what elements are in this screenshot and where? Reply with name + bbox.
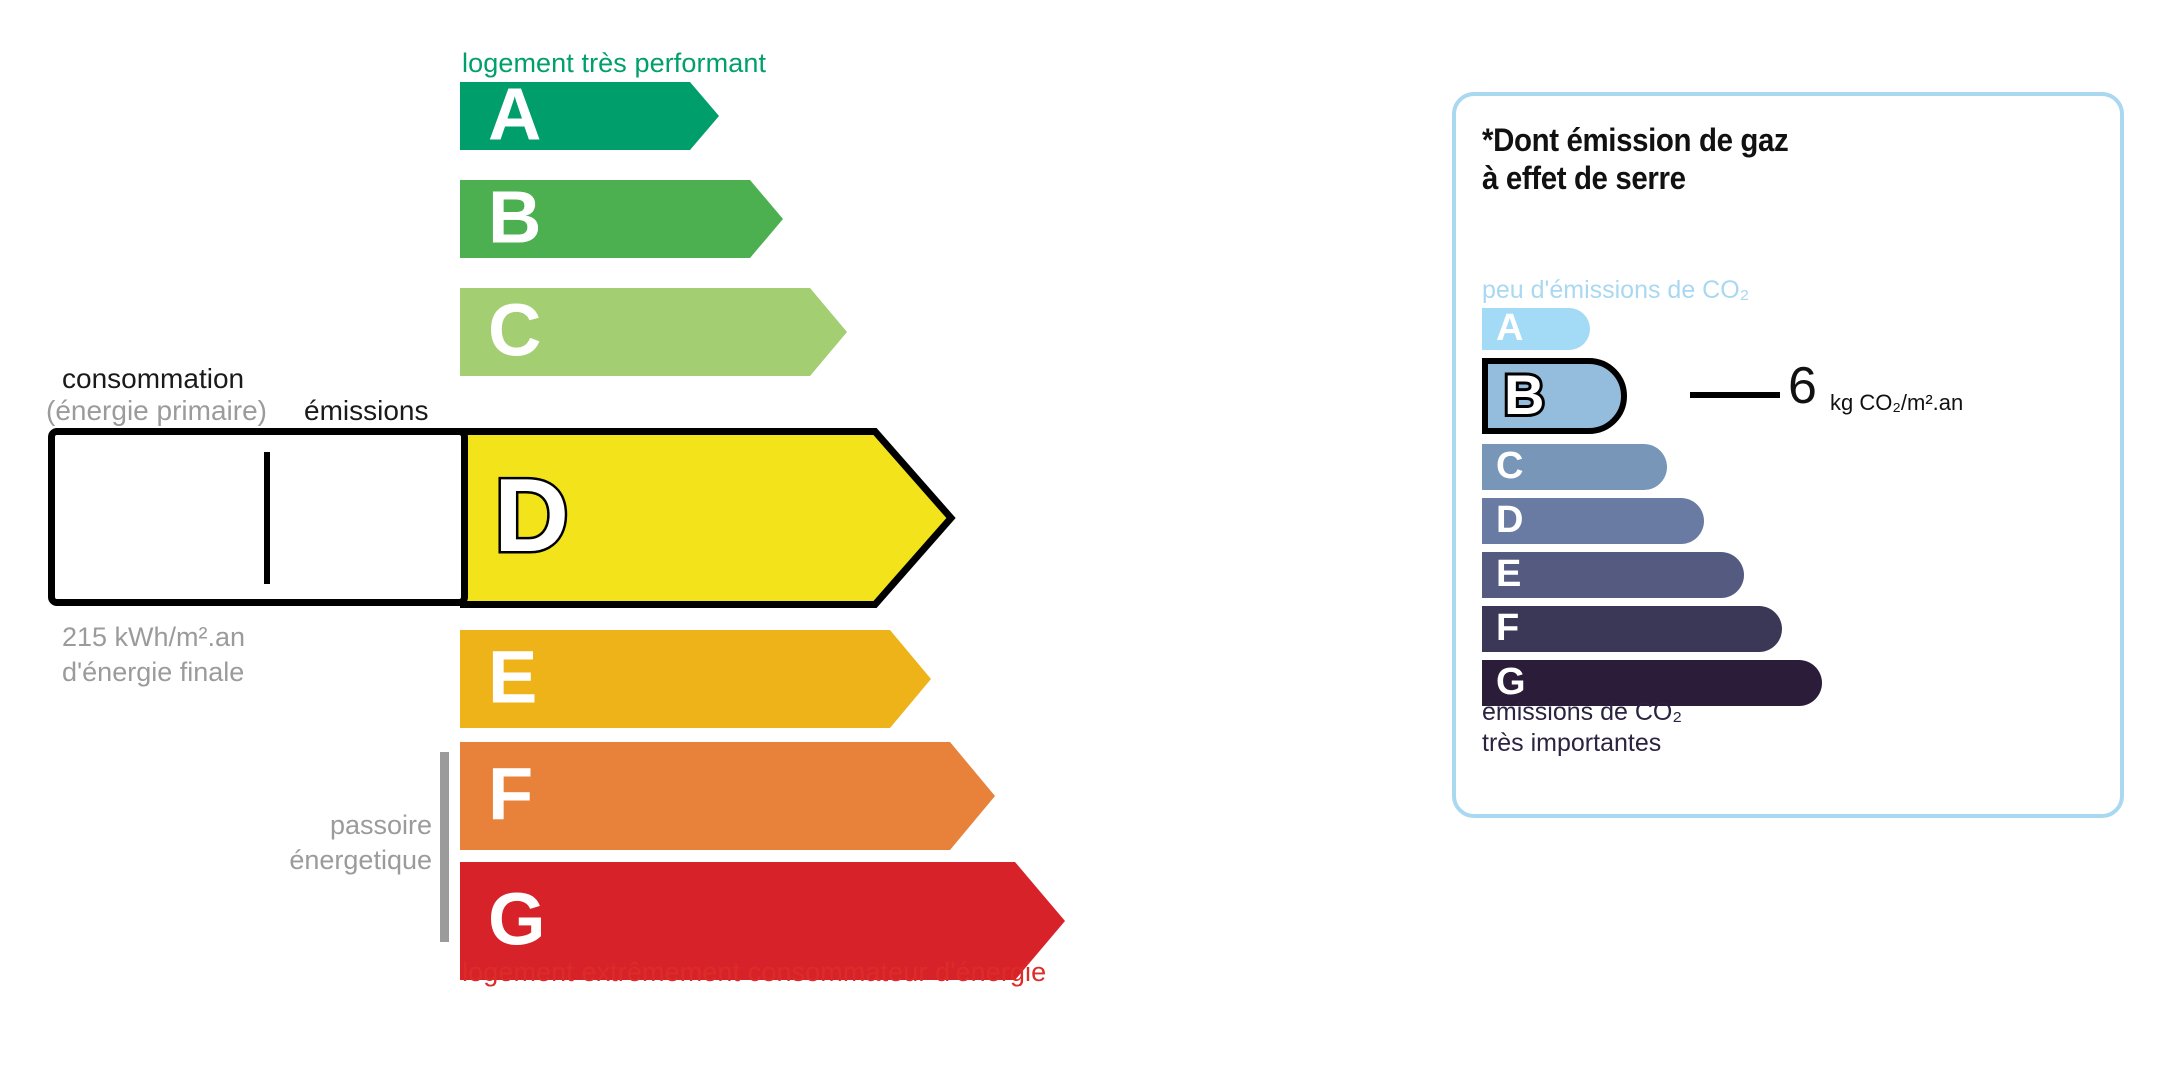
co2-bar-shape-e: E <box>1482 552 1744 598</box>
co2-leader-line <box>1690 392 1780 398</box>
co2-bar-e: E <box>1482 552 1744 598</box>
co2-bar-letter-d: D <box>1496 501 1523 539</box>
co2-panel-title: *Dont émission de gazà effet de serre <box>1482 122 1788 198</box>
emissions-header: émissions <box>304 395 428 427</box>
co2-bar-b: B <box>1482 358 1627 434</box>
energy-class-arrow-d: D <box>460 428 951 608</box>
co2-bar-shape-f: F <box>1482 606 1782 652</box>
arrow-shape-c: C <box>460 288 847 376</box>
co2-bar-a: A <box>1482 308 1590 350</box>
arrow-letter-e: E <box>488 641 537 715</box>
co2-bar-f: F <box>1482 606 1782 652</box>
co2-bar-shape-a: A <box>1482 308 1590 350</box>
arrow-letter-d: D <box>494 464 569 568</box>
passoire-energetique-label: passoireénergetique <box>170 808 432 877</box>
co2-bar-letter-g: G <box>1496 663 1526 701</box>
arrow-shape-a: A <box>460 82 719 150</box>
co2-value-unit: kg CO₂/m².an <box>1830 390 1963 416</box>
co2-bar-d: D <box>1482 498 1704 544</box>
arrow-shape-d: D <box>460 428 951 608</box>
energy-class-arrow-a: A <box>460 82 719 150</box>
co2-bar-shape-c: C <box>1482 444 1667 490</box>
final-energy-note: 215 kWh/m².and'énergie finale <box>62 620 245 689</box>
energy-class-arrow-c: C <box>460 288 847 376</box>
energy-class-arrow-f: F <box>460 742 995 850</box>
arrow-letter-f: F <box>488 758 533 832</box>
box-divider <box>264 452 270 584</box>
consumption-subheader: (énergie primaire) <box>46 395 267 427</box>
co2-bar-letter-a: A <box>1496 309 1523 347</box>
scale-caption-bottom: logement extrêmement consommateur d'éner… <box>462 957 1046 988</box>
arrow-letter-b: B <box>488 181 541 255</box>
co2-bar-letter-b: B <box>1504 367 1544 423</box>
co2-bar-shape-d: D <box>1482 498 1704 544</box>
co2-caption-top: peu d'émissions de CO₂ <box>1482 276 1749 305</box>
arrow-letter-c: C <box>488 294 541 368</box>
co2-caption-bottom: émissions de CO₂très importantes <box>1482 697 1682 759</box>
energy-class-arrow-b: B <box>460 180 783 258</box>
energy-class-arrow-e: E <box>460 630 931 728</box>
co2-value: 6 <box>1788 360 1817 412</box>
arrow-shape-e: E <box>460 630 931 728</box>
arrow-letter-a: A <box>488 78 541 152</box>
consumption-emission-box <box>48 428 468 606</box>
co2-bar-c: C <box>1482 444 1667 490</box>
arrow-letter-g: G <box>488 883 546 957</box>
arrow-shape-b: B <box>460 180 783 258</box>
energy-class-scale: logement très performant ABCDEFG logemen… <box>0 0 1400 1079</box>
arrow-shape-f: F <box>460 742 995 850</box>
passoire-bracket <box>440 752 449 942</box>
co2-bar-letter-f: F <box>1496 609 1519 647</box>
co2-bar-letter-c: C <box>1496 447 1523 485</box>
co2-bar-shape-b: B <box>1482 358 1627 434</box>
co2-bar-letter-e: E <box>1496 555 1521 593</box>
consumption-header: consommation <box>62 363 244 395</box>
